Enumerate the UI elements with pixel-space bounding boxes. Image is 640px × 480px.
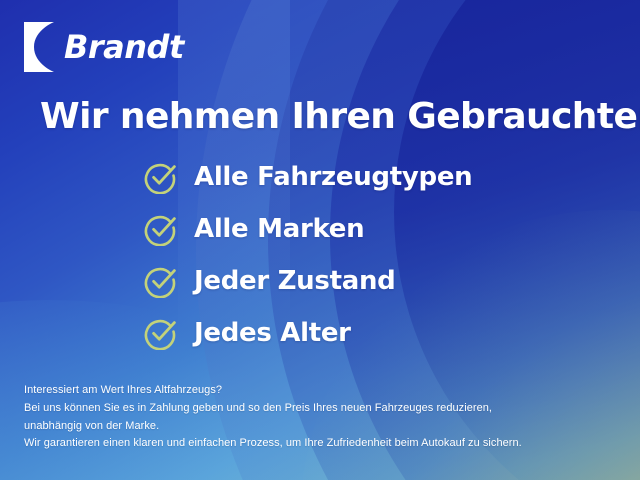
list-item: Alle Fahrzeugtypen xyxy=(144,158,472,196)
check-circle-icon xyxy=(144,212,178,246)
bracket-c-mark-icon xyxy=(24,22,58,72)
list-item: Jedes Alter xyxy=(144,314,472,352)
feature-label: Jedes Alter xyxy=(194,320,351,346)
fineprint-line: Wir garantieren einen klaren und einfach… xyxy=(24,435,522,453)
check-circle-icon xyxy=(144,264,178,298)
feature-list: Alle Fahrzeugtypen Alle Marken Jeder Zus… xyxy=(144,158,472,352)
list-item: Jeder Zustand xyxy=(144,262,472,300)
feature-label: Alle Fahrzeugtypen xyxy=(194,164,472,190)
page-title: Wir nehmen Ihren Gebrauchten! xyxy=(40,97,640,137)
feature-label: Alle Marken xyxy=(194,216,364,242)
feature-label: Jeder Zustand xyxy=(194,268,395,294)
brand-name: Brandt xyxy=(64,31,184,63)
fineprint-line: Bei uns können Sie es in Zahlung geben u… xyxy=(24,400,522,418)
check-circle-icon xyxy=(144,316,178,350)
list-item: Alle Marken xyxy=(144,210,472,248)
brand-logo[interactable]: Brandt xyxy=(24,22,184,72)
promo-banner: Brandt Wir nehmen Ihren Gebrauchten! All… xyxy=(0,0,640,480)
check-circle-icon xyxy=(144,160,178,194)
banner-content: Brandt Wir nehmen Ihren Gebrauchten! All… xyxy=(0,0,640,480)
fineprint-block: Interessiert am Wert Ihres Altfahrzeugs?… xyxy=(24,382,522,453)
fineprint-line: Interessiert am Wert Ihres Altfahrzeugs? xyxy=(24,382,522,400)
fineprint-line: unabhängig von der Marke. xyxy=(24,418,522,436)
